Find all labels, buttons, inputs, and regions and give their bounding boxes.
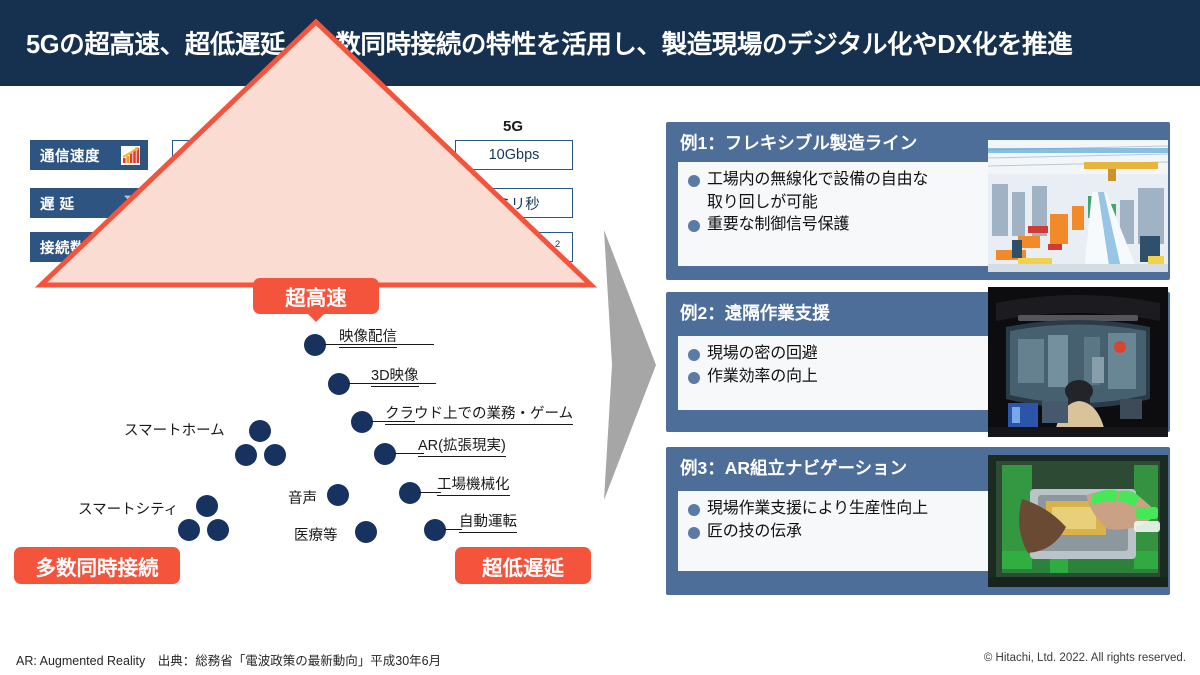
bullet-text: 現場作業支援により生産性向上 xyxy=(707,498,928,520)
triangle-dot xyxy=(264,444,286,466)
triangle-label-cloud-work-games: クラウド上での業務・ゲーム xyxy=(385,402,573,425)
triangle-dot xyxy=(351,411,373,433)
example-1-bullets: 工場内の無線化で設備の自由な 取り回しが可能 重要な制御信号保護 xyxy=(678,162,988,266)
bullet-dot-icon xyxy=(688,527,700,539)
triangle-dot xyxy=(355,521,377,543)
triangle-corner-bottom-left: 多数同時接続 xyxy=(14,547,180,584)
example-panel-1: 例1：フレキシブル製造ライン 工場内の無線化で設備の自由な 取り回しが可能 重要… xyxy=(666,122,1170,280)
triangle-dot xyxy=(328,373,350,395)
example-panel-3: 例3：AR組立ナビゲーション 現場作業支援により生産性向上 匠の技の伝承 xyxy=(666,447,1170,595)
bullet-dot-icon xyxy=(688,175,700,187)
triangle-label-ar: AR(拡張現実) xyxy=(418,434,506,457)
triangle-label-video-streaming: 映像配信 xyxy=(339,325,397,348)
bullet-dot-icon xyxy=(688,220,700,232)
triangle-dot xyxy=(304,334,326,356)
example-1-title: 例1：フレキシブル製造ライン xyxy=(680,130,917,155)
triangle-dot xyxy=(399,482,421,504)
triangle-label-factory-automation: 工場機械化 xyxy=(437,473,510,496)
ar-assembly-hands-photo xyxy=(988,455,1168,587)
triangle-label-autonomous-driving: 自動運転 xyxy=(459,510,517,533)
bullet-item: 工場内の無線化で設備の自由な xyxy=(688,169,980,191)
example-2-title: 例2：遠隔作業支援 xyxy=(680,300,830,325)
bullet-text: 取り回しが可能 xyxy=(707,192,818,214)
triangle-label-smart-city: スマートシティ xyxy=(78,498,178,519)
triangle-dot xyxy=(207,519,229,541)
triangle-dot xyxy=(249,420,271,442)
copyright-notice: © Hitachi, Ltd. 2022. All rights reserve… xyxy=(984,652,1186,664)
bullet-text: 工場内の無線化で設備の自由な xyxy=(707,169,928,191)
bullet-item-continuation: 取り回しが可能 xyxy=(688,192,980,214)
bullet-text: 現場の密の回避 xyxy=(707,343,818,365)
triangle-corner-top: 超高速 xyxy=(253,278,379,314)
bullet-item: 匠の技の伝承 xyxy=(688,521,980,543)
bullet-item: 現場の密の回避 xyxy=(688,343,980,365)
bullet-text: 重要な制御信号保護 xyxy=(707,214,849,236)
triangle-dot xyxy=(196,495,218,517)
bullet-text: 作業効率の向上 xyxy=(707,366,818,388)
bullet-item: 重要な制御信号保護 xyxy=(688,214,980,236)
triangle-label-smart-home: スマートホーム xyxy=(124,419,225,440)
bullet-text: 匠の技の伝承 xyxy=(707,521,802,543)
triangle-corner-bottom-right: 超低遅延 xyxy=(455,547,591,584)
example-2-bullets: 現場の密の回避 作業効率の向上 xyxy=(678,336,988,410)
triangle-label-medical: 医療等 xyxy=(294,524,338,545)
bullet-dot-icon xyxy=(688,504,700,516)
example-panel-2: 例2：遠隔作業支援 現場の密の回避 作業効率の向上 xyxy=(666,292,1170,432)
triangle-dot xyxy=(235,444,257,466)
triangle-shape xyxy=(0,0,620,320)
triangle-dot xyxy=(327,484,349,506)
footer-source-note: AR: Augmented Reality 出典：総務省「電波政策の最新動向」平… xyxy=(16,650,441,669)
example-3-title: 例3：AR組立ナビゲーション xyxy=(680,455,907,480)
triangle-dot xyxy=(424,519,446,541)
bullet-item: 作業効率の向上 xyxy=(688,366,980,388)
triangle-label-voice: 音声 xyxy=(288,487,317,508)
triangle-dot xyxy=(374,443,396,465)
triangle-label-3d-video: 3D映像 xyxy=(371,364,419,387)
bullet-item: 現場作業支援により生産性向上 xyxy=(688,498,980,520)
slide-canvas: 5Gの超高速、超低遅延、多数同時接続の特性を活用し、製造現場のデジタル化やDX化… xyxy=(0,0,1200,675)
remote-operation-console-photo xyxy=(988,287,1168,437)
example-3-bullets: 現場作業支援により生産性向上 匠の技の伝承 xyxy=(678,491,988,571)
bullet-dot-icon xyxy=(688,372,700,384)
bullet-dot-icon xyxy=(688,349,700,361)
triangle-dot xyxy=(178,519,200,541)
factory-production-line-photo xyxy=(988,140,1168,272)
